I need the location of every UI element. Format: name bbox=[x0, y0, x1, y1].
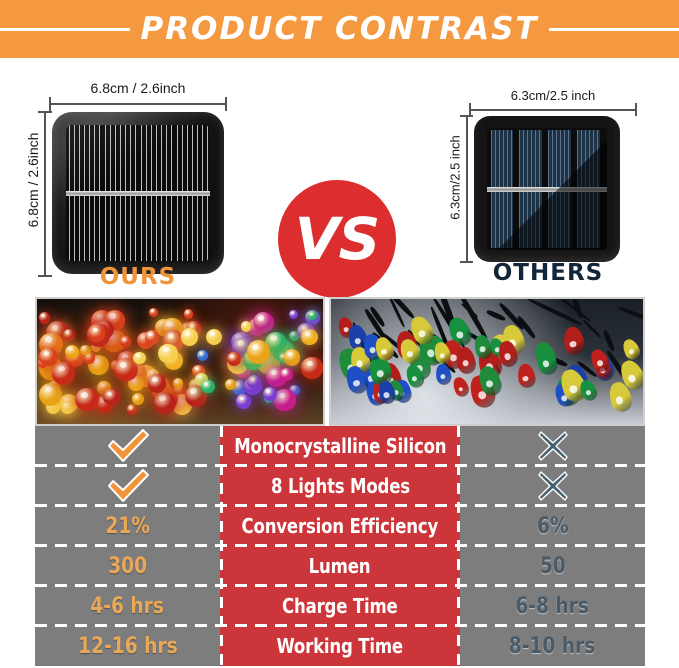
ours-panel-group: 6.8cm / 2.6inch 6.8cm / 2.6inch OURS bbox=[8, 68, 258, 290]
feature-name-cell: 8 Lights Modes bbox=[220, 466, 460, 506]
dimension-line-icon bbox=[50, 103, 226, 105]
cross-icon bbox=[536, 469, 570, 503]
light-bulb bbox=[227, 352, 241, 366]
light-bulb bbox=[63, 329, 75, 341]
feature-name-cell: Conversion Efficiency bbox=[220, 506, 460, 546]
table-row: 300Lumen50 bbox=[35, 546, 645, 586]
feature-label: 8 Lights Modes bbox=[271, 474, 410, 498]
comparison-table: Monocrystalline Silicon8 Lights Modes21%… bbox=[35, 426, 645, 666]
others-value-cell: 6% bbox=[460, 506, 645, 546]
others-value-text: 6% bbox=[537, 514, 569, 539]
light-bulb bbox=[280, 368, 293, 381]
feature-name-cell: Working Time bbox=[220, 626, 460, 666]
light-bulb bbox=[133, 352, 145, 364]
ours-solar-panel-image bbox=[52, 112, 224, 274]
others-value-cell: 8-10 hrs bbox=[460, 626, 645, 666]
dimension-tick-icon bbox=[460, 115, 473, 117]
light-bulb bbox=[289, 310, 298, 319]
light-bulb bbox=[132, 393, 144, 405]
banner-rule-left bbox=[0, 28, 130, 31]
led-wire bbox=[602, 330, 615, 352]
light-bulb bbox=[253, 312, 275, 334]
ours-width-dimension: 6.8cm / 2.6inch bbox=[48, 80, 228, 110]
light-bulb bbox=[236, 394, 251, 409]
others-value-text: 50 bbox=[540, 554, 566, 579]
ours-value-text: 21% bbox=[105, 514, 150, 539]
table-row: 21%Conversion Efficiency6% bbox=[35, 506, 645, 546]
light-bulb bbox=[158, 344, 178, 364]
led-wire bbox=[582, 319, 601, 338]
feature-label: Conversion Efficiency bbox=[242, 514, 439, 538]
table-column-divider bbox=[457, 426, 460, 666]
vs-label: VS bbox=[295, 210, 380, 268]
light-bulb bbox=[154, 392, 176, 414]
light-bulb bbox=[148, 374, 166, 392]
table-row: 12-16 hrsWorking Time8-10 hrs bbox=[35, 626, 645, 666]
light-bulb bbox=[75, 388, 99, 412]
light-bulb bbox=[173, 378, 183, 388]
light-bulb bbox=[201, 380, 214, 393]
ours-width-label: 6.8cm / 2.6inch bbox=[48, 80, 228, 96]
led-bulb bbox=[516, 363, 537, 390]
dimension-tick-icon bbox=[38, 111, 52, 113]
others-lights-photo bbox=[329, 297, 645, 426]
light-bulb bbox=[127, 404, 138, 415]
solar-busbar bbox=[487, 187, 607, 192]
led-bulb bbox=[620, 337, 643, 363]
solar-busbar bbox=[66, 191, 210, 196]
feature-label: Charge Time bbox=[282, 594, 398, 618]
feature-label: Monocrystalline Silicon bbox=[234, 434, 446, 458]
ours-value-cell: 12-16 hrs bbox=[35, 626, 220, 666]
ours-value-cell: 21% bbox=[35, 506, 220, 546]
ours-value-text: 12-16 hrs bbox=[78, 634, 177, 659]
light-bulb bbox=[39, 348, 57, 366]
photo-comparison-strip bbox=[35, 297, 645, 426]
ours-value-cell bbox=[35, 426, 220, 466]
light-bulb bbox=[197, 350, 208, 361]
dimension-tick-icon bbox=[38, 275, 52, 277]
header-banner: PRODUCT CONTRAST bbox=[0, 0, 679, 58]
light-bulb bbox=[103, 389, 119, 405]
vs-badge: VS bbox=[278, 180, 396, 298]
led-bulb bbox=[454, 345, 477, 375]
table-row: 8 Lights Modes bbox=[35, 466, 645, 506]
light-bulb bbox=[225, 379, 236, 390]
light-bulb bbox=[184, 309, 193, 318]
others-solar-panel-image bbox=[474, 116, 620, 262]
light-bulb bbox=[80, 345, 91, 356]
others-value-cell: 50 bbox=[460, 546, 645, 586]
dimension-tick-icon bbox=[49, 97, 51, 111]
check-icon bbox=[105, 466, 151, 506]
light-bulb bbox=[39, 383, 62, 406]
table-row: 4-6 hrsCharge Time6-8 hrs bbox=[35, 586, 645, 626]
light-bulb bbox=[65, 345, 79, 359]
light-bulb bbox=[284, 349, 300, 365]
others-value-cell bbox=[460, 466, 645, 506]
solar-cell-face bbox=[66, 125, 210, 261]
ours-lights-photo bbox=[35, 297, 325, 426]
light-bulb bbox=[145, 330, 160, 345]
light-bulb bbox=[120, 336, 130, 346]
dimension-line-icon bbox=[44, 112, 46, 276]
dimension-tick-icon bbox=[225, 97, 227, 111]
others-panel-group: 6.3cm/2.5 inch 6.3cm/2.5 inch OTHERS bbox=[430, 80, 674, 290]
light-bulb bbox=[247, 340, 271, 364]
led-bulb bbox=[451, 375, 471, 399]
others-width-dimension: 6.3cm/2.5 inch bbox=[468, 88, 638, 116]
others-height-dimension: 6.3cm/2.5 inch bbox=[434, 114, 474, 264]
cross-icon bbox=[536, 429, 570, 463]
solar-cell-face bbox=[487, 128, 607, 250]
ours-value-text: 4-6 hrs bbox=[91, 594, 165, 619]
others-label: OTHERS bbox=[460, 260, 636, 286]
ours-label: OURS bbox=[52, 264, 224, 290]
ours-value-text: 300 bbox=[108, 554, 147, 579]
ours-value-cell: 300 bbox=[35, 546, 220, 586]
feature-name-cell: Monocrystalline Silicon bbox=[220, 426, 460, 466]
others-value-cell: 6-8 hrs bbox=[460, 586, 645, 626]
dimension-tick-icon bbox=[635, 103, 637, 116]
table-column-divider bbox=[220, 426, 223, 666]
dimension-line-icon bbox=[466, 116, 468, 262]
light-bulb bbox=[206, 329, 223, 346]
led-wire bbox=[618, 305, 645, 324]
ours-height-label: 6.8cm / 2.6inch bbox=[25, 105, 41, 255]
light-bulb bbox=[181, 328, 198, 345]
others-width-label: 6.3cm/2.5 inch bbox=[468, 88, 638, 103]
panel-comparison-section: 6.8cm / 2.6inch 6.8cm / 2.6inch OURS VS bbox=[0, 58, 679, 290]
light-bulb bbox=[149, 308, 158, 317]
light-bulb bbox=[301, 357, 322, 378]
ours-value-cell bbox=[35, 466, 220, 506]
led-bulb bbox=[562, 326, 586, 357]
others-value-cell bbox=[460, 426, 645, 466]
dimension-line-icon bbox=[470, 109, 636, 111]
feature-name-cell: Lumen bbox=[220, 546, 460, 586]
light-bulb bbox=[247, 375, 261, 389]
feature-label: Lumen bbox=[309, 554, 371, 578]
light-bulb bbox=[301, 329, 317, 345]
light-bulb bbox=[39, 312, 51, 324]
ours-height-dimension: 6.8cm / 2.6inch bbox=[10, 110, 52, 278]
banner-rule-right bbox=[549, 28, 679, 31]
feature-label: Working Time bbox=[277, 634, 403, 658]
others-value-text: 6-8 hrs bbox=[516, 594, 590, 619]
light-bulb bbox=[263, 387, 277, 401]
table-row: Monocrystalline Silicon bbox=[35, 426, 645, 466]
others-value-text: 8-10 hrs bbox=[509, 634, 596, 659]
ours-value-cell: 4-6 hrs bbox=[35, 586, 220, 626]
light-bulb bbox=[52, 362, 75, 385]
others-height-label: 6.3cm/2.5 inch bbox=[448, 105, 463, 251]
page-title: PRODUCT CONTRAST bbox=[140, 11, 538, 47]
feature-name-cell: Charge Time bbox=[220, 586, 460, 626]
check-icon bbox=[105, 426, 151, 466]
light-bulb bbox=[241, 321, 252, 332]
